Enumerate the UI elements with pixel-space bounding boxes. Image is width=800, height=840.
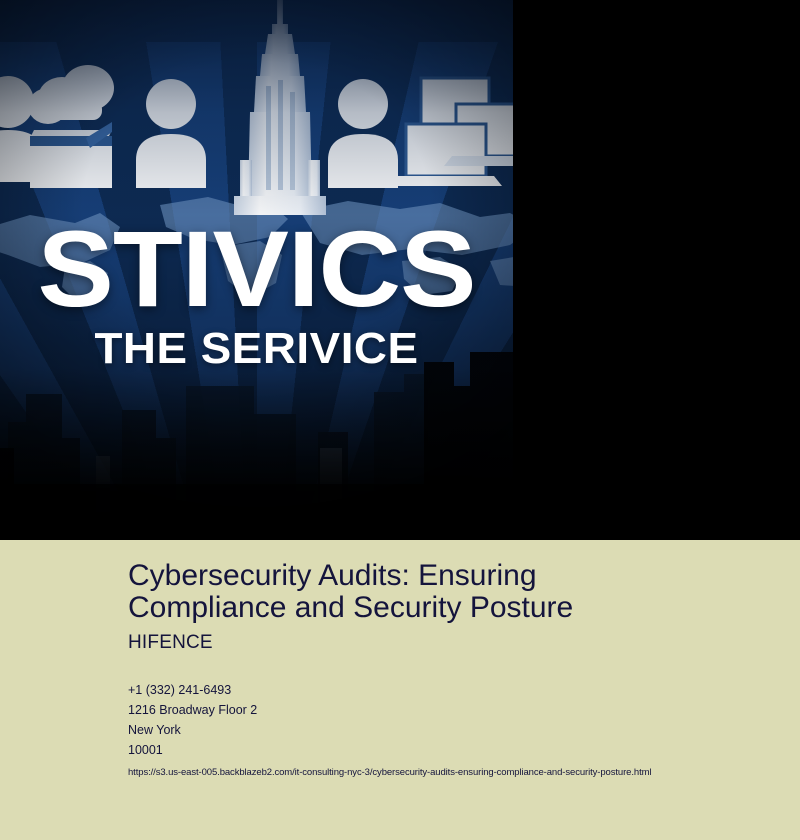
contact-block: +1 (332) 241-6493 1216 Broadway Floor 2 … [128,680,788,761]
contact-city: New York [128,720,788,740]
source-url-link[interactable]: https://s3.us-east-005.backblazeb2.com/i… [128,767,788,778]
hero-illustration: STIVICS THE SERIVICE [0,0,513,512]
page-title: Cybersecurity Audits: Ensuring Complianc… [128,560,628,624]
info-section: Cybersecurity Audits: Ensuring Complianc… [0,540,800,840]
brand-name: HIFENCE [128,632,788,654]
contact-zip: 10001 [128,740,788,760]
page-root: STIVICS THE SERIVICE Cybersecurity Audit… [0,0,800,840]
vignette-overlay [0,0,513,512]
contact-street: 1216 Broadway Floor 2 [128,700,788,720]
contact-phone[interactable]: +1 (332) 241-6493 [128,680,788,700]
info-content: Cybersecurity Audits: Ensuring Complianc… [128,560,788,778]
hero-banner-band: STIVICS THE SERIVICE [0,0,800,540]
